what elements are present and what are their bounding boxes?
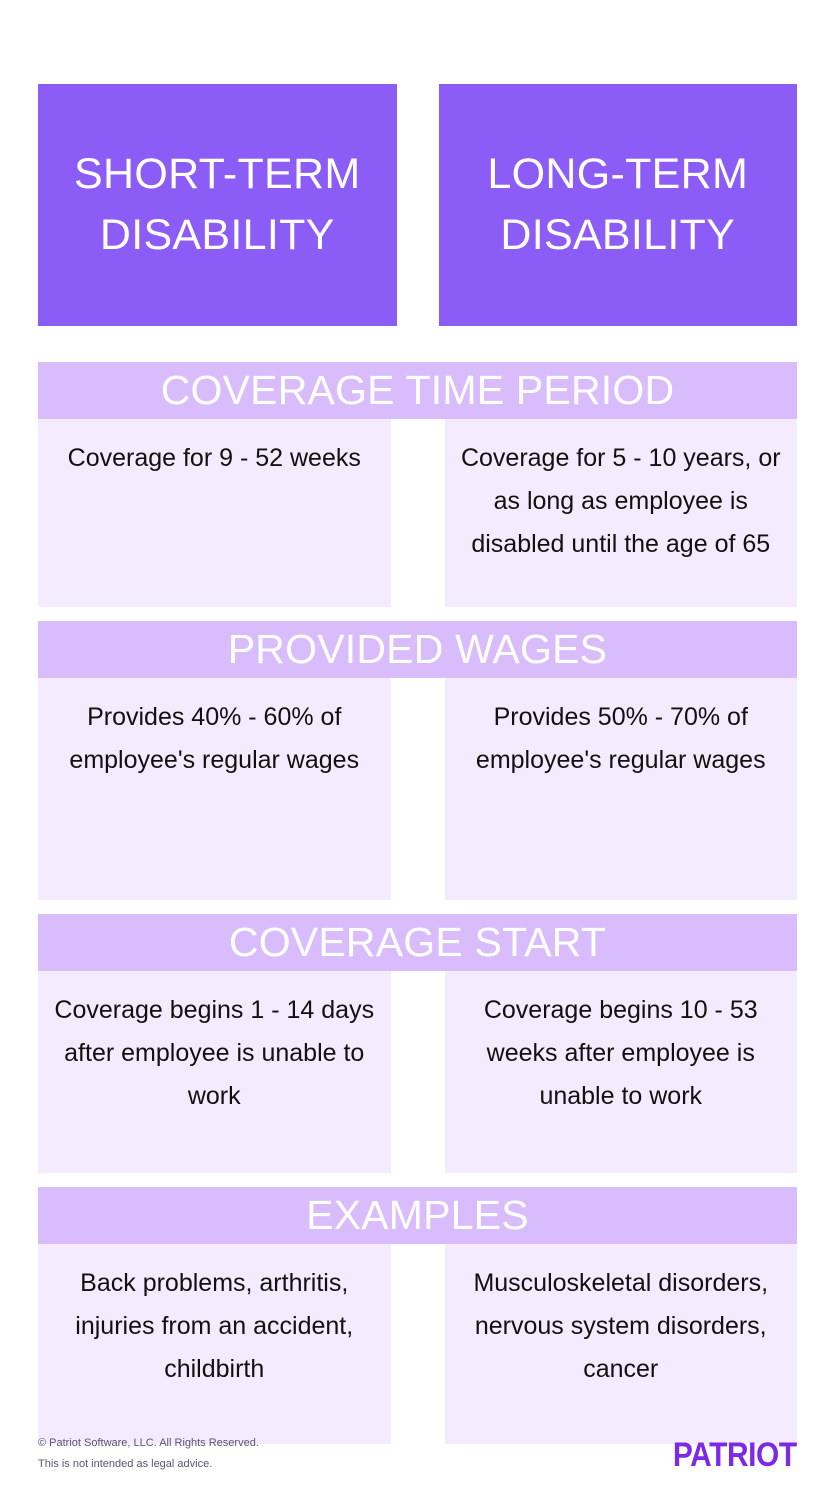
cell-long-term-coverage-time-period: Coverage for 5 - 10 years, or as long as…	[445, 419, 798, 607]
title-card-long-term-label: LONG-TERM DISABILITY	[439, 144, 798, 266]
cell-text: Provides 50% - 70% of employee's regular…	[451, 696, 792, 878]
section-coverage-time-period: COVERAGE TIME PERIOD Coverage for 9 - 52…	[38, 362, 797, 607]
footer-legal-text: © Patriot Software, LLC. All Rights Rese…	[38, 1433, 259, 1474]
section-header-examples: EXAMPLES	[38, 1187, 797, 1244]
title-card-short-term: SHORT-TERM DISABILITY	[38, 84, 397, 326]
section-body-examples: Back problems, arthritis, injuries from …	[38, 1244, 797, 1444]
section-header-coverage-time-period: COVERAGE TIME PERIOD	[38, 362, 797, 419]
footer-disclaimer: This is not intended as legal advice.	[38, 1454, 259, 1474]
section-provided-wages: PROVIDED WAGES Provides 40% - 60% of emp…	[38, 621, 797, 900]
section-body-coverage-start: Coverage begins 1 - 14 days after employ…	[38, 971, 797, 1173]
cell-long-term-provided-wages: Provides 50% - 70% of employee's regular…	[445, 678, 798, 900]
cell-short-term-coverage-start: Coverage begins 1 - 14 days after employ…	[38, 971, 391, 1173]
section-coverage-start: COVERAGE START Coverage begins 1 - 14 da…	[38, 914, 797, 1173]
title-card-row: SHORT-TERM DISABILITY LONG-TERM DISABILI…	[38, 0, 797, 326]
cell-text: Coverage for 5 - 10 years, or as long as…	[451, 437, 792, 585]
section-body-coverage-time-period: Coverage for 9 - 52 weeks Coverage for 5…	[38, 419, 797, 607]
cell-text: Coverage begins 1 - 14 days after employ…	[44, 989, 385, 1151]
section-examples: EXAMPLES Back problems, arthritis, injur…	[38, 1187, 797, 1444]
patriot-logo: PATRIOT	[673, 1438, 797, 1474]
cell-long-term-examples: Musculoskeletal disorders, nervous syste…	[445, 1244, 798, 1444]
footer: © Patriot Software, LLC. All Rights Rese…	[38, 1433, 797, 1474]
section-header-label: COVERAGE TIME PERIOD	[161, 370, 675, 411]
title-card-long-term: LONG-TERM DISABILITY	[439, 84, 798, 326]
cell-short-term-examples: Back problems, arthritis, injuries from …	[38, 1244, 391, 1444]
section-header-label: COVERAGE START	[229, 922, 606, 963]
cell-short-term-coverage-time-period: Coverage for 9 - 52 weeks	[38, 419, 391, 607]
cell-text: Musculoskeletal disorders, nervous syste…	[451, 1262, 792, 1422]
section-body-provided-wages: Provides 40% - 60% of employee's regular…	[38, 678, 797, 900]
cell-text: Back problems, arthritis, injuries from …	[44, 1262, 385, 1422]
cell-long-term-coverage-start: Coverage begins 10 - 53 weeks after empl…	[445, 971, 798, 1173]
section-header-coverage-start: COVERAGE START	[38, 914, 797, 971]
footer-copyright: © Patriot Software, LLC. All Rights Rese…	[38, 1433, 259, 1453]
cell-text: Coverage begins 10 - 53 weeks after empl…	[451, 989, 792, 1151]
section-header-label: PROVIDED WAGES	[228, 629, 607, 670]
cell-text: Coverage for 9 - 52 weeks	[44, 437, 385, 585]
section-header-label: EXAMPLES	[306, 1195, 529, 1236]
section-header-provided-wages: PROVIDED WAGES	[38, 621, 797, 678]
title-card-short-term-label: SHORT-TERM DISABILITY	[38, 144, 397, 266]
cell-short-term-provided-wages: Provides 40% - 60% of employee's regular…	[38, 678, 391, 900]
disability-comparison-infographic: SHORT-TERM DISABILITY LONG-TERM DISABILI…	[0, 0, 835, 1500]
cell-text: Provides 40% - 60% of employee's regular…	[44, 696, 385, 878]
comparison-sections: COVERAGE TIME PERIOD Coverage for 9 - 52…	[38, 362, 797, 1444]
